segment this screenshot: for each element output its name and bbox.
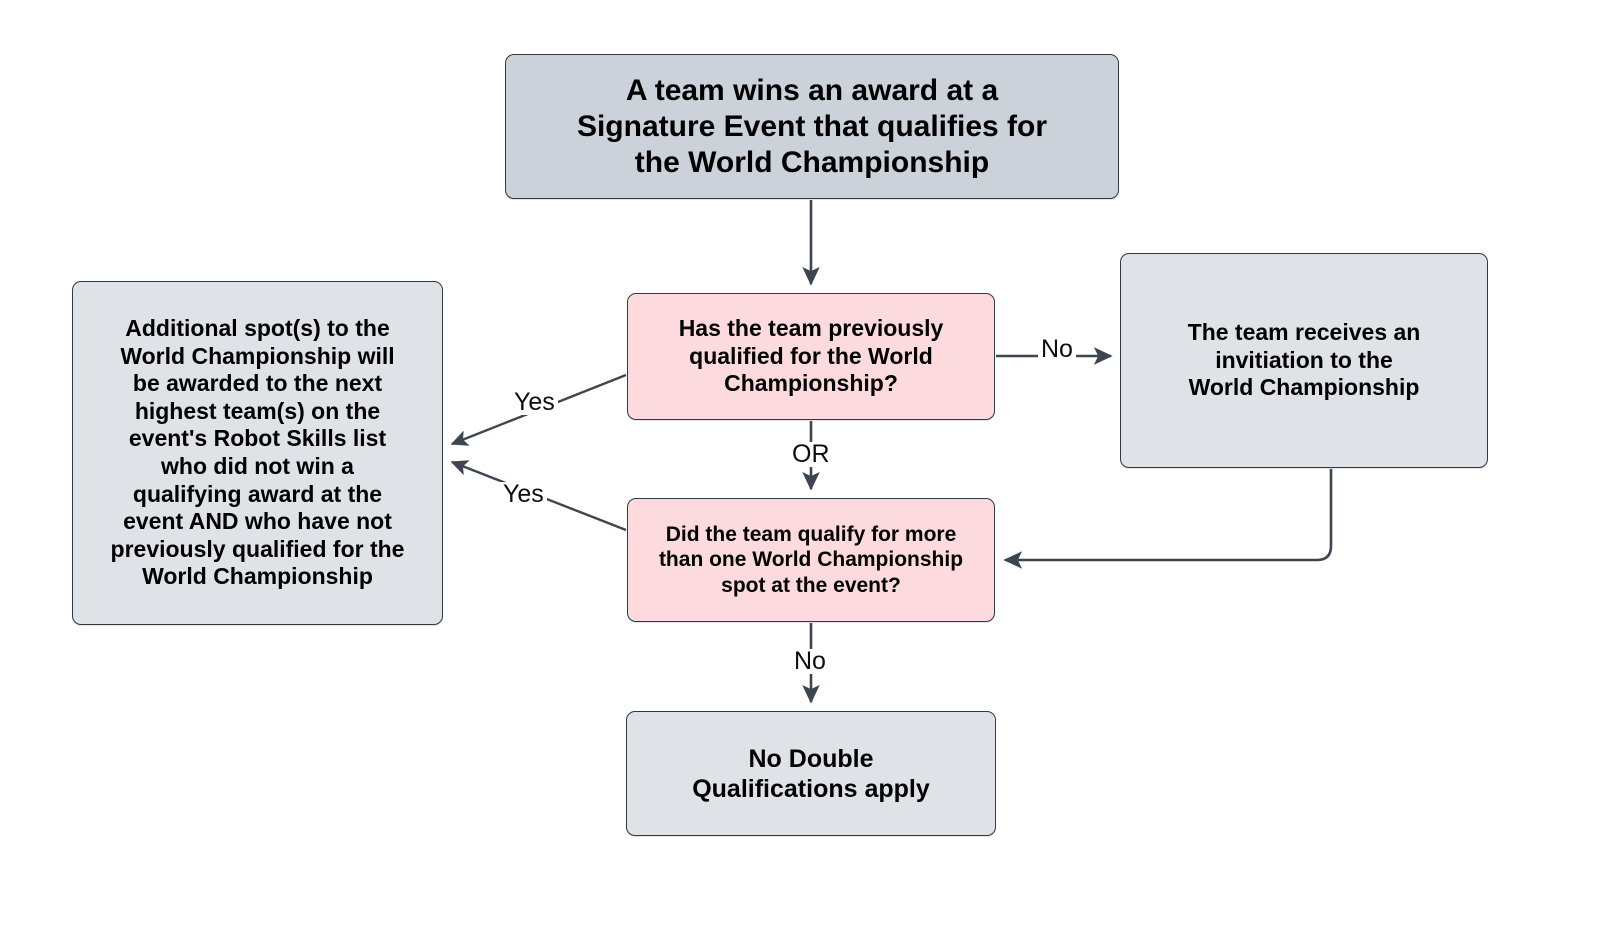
edge-invitation-to-more-than-one [1005,469,1331,560]
node-decision-previously-qualified[interactable]: Has the team previously qualified for th… [627,293,995,420]
node-outcome-additional-spots[interactable]: Additional spot(s) to the World Champion… [72,281,443,625]
edge-label-yes-more-than-one-spot: Yes [500,482,547,507]
flowchart-canvas: A team wins an award at a Signature Even… [0,0,1600,937]
edge-label-no-previously-qualified: No [1038,337,1076,362]
node-outcome-invitation[interactable]: The team receives an invitiation to the … [1120,253,1488,468]
node-decision-more-than-one-spot[interactable]: Did the team qualify for more than one W… [627,498,995,622]
edge-label-no-more-than-one-spot: No [791,649,829,674]
node-start-award-win[interactable]: A team wins an award at a Signature Even… [505,54,1119,199]
edge-label-or: OR [789,442,833,467]
edge-label-yes-previously-qualified: Yes [511,390,558,415]
node-outcome-no-double-qualifications[interactable]: No Double Qualifications apply [626,711,996,836]
